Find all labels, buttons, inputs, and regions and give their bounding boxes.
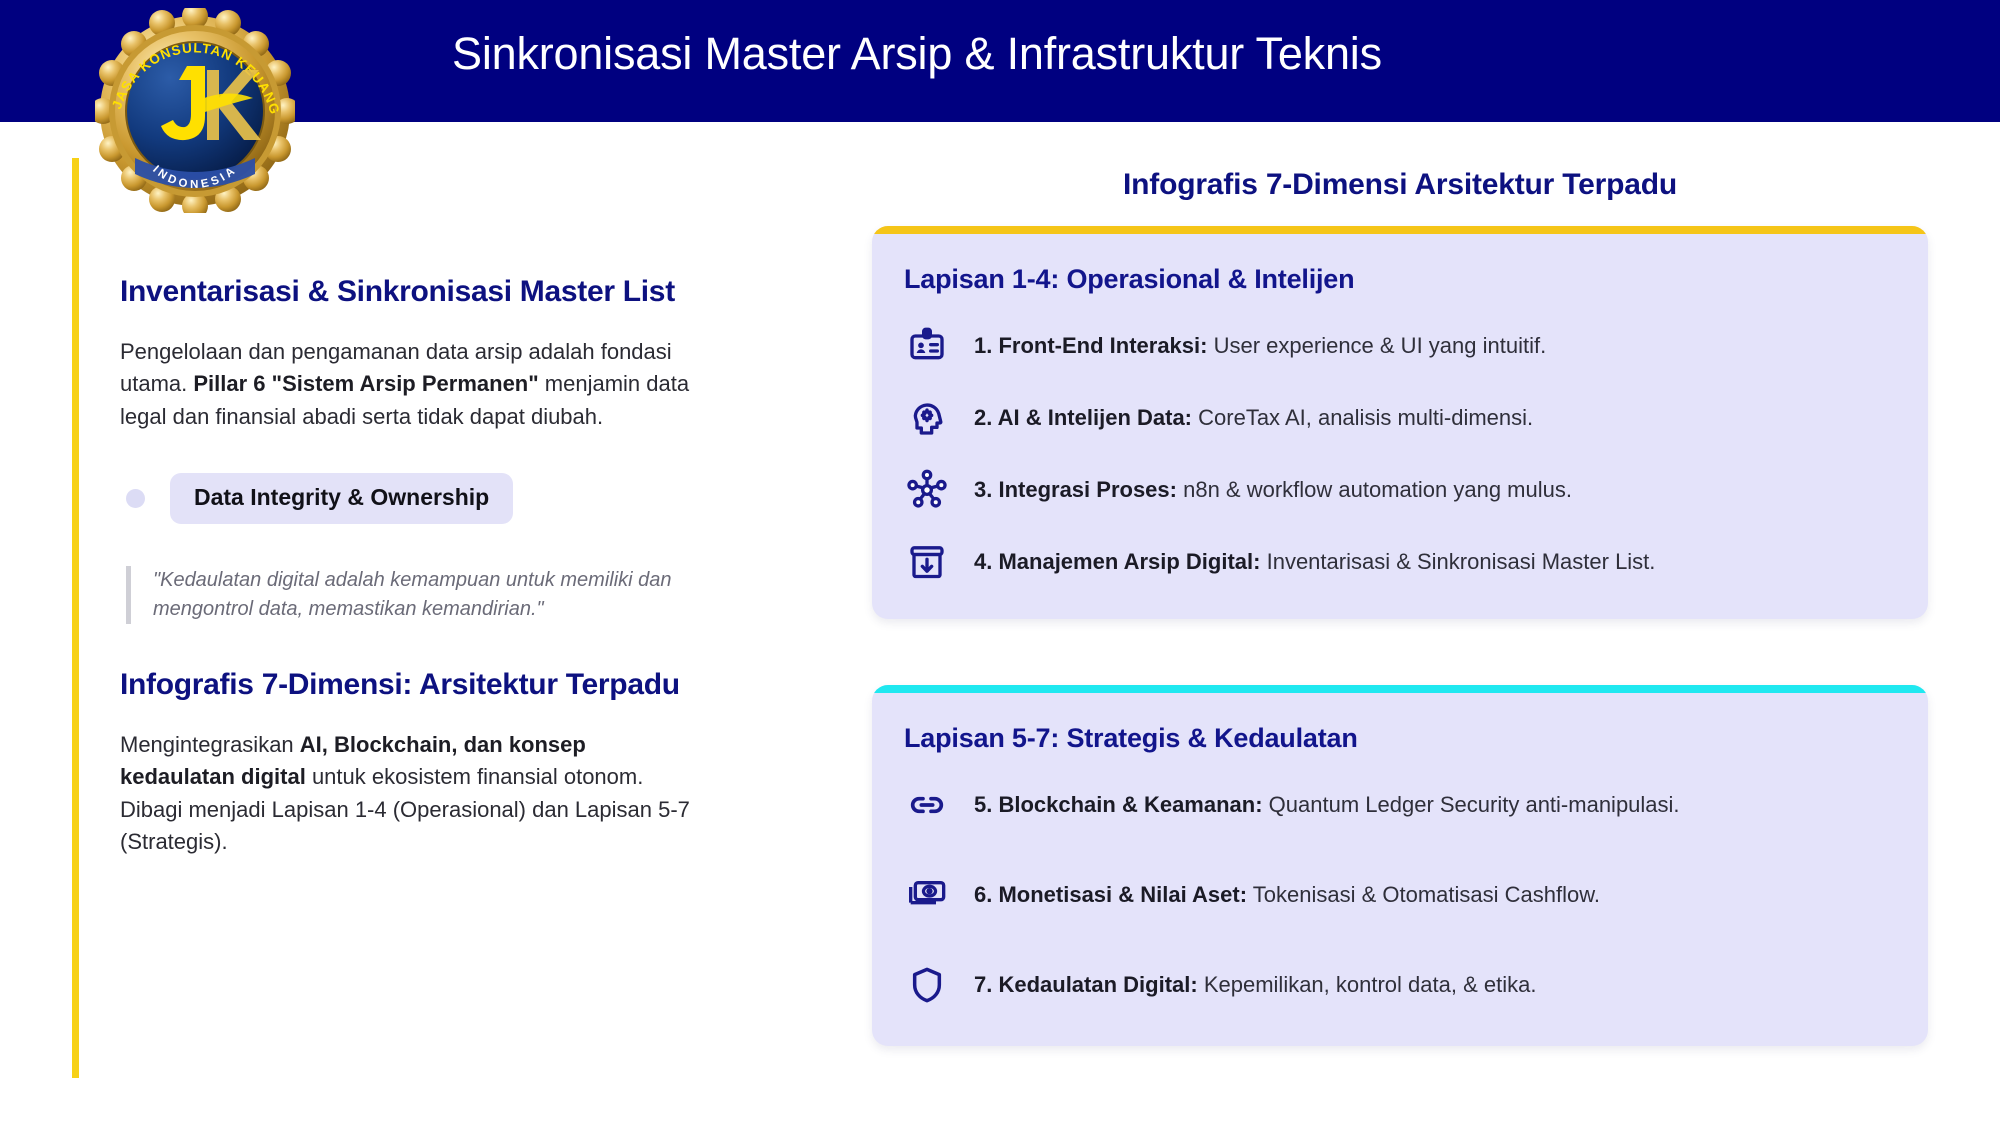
paragraph-part: Mengintegrasikan [120, 732, 300, 757]
card-accent-bar [872, 685, 1928, 693]
banknote-icon [904, 872, 950, 918]
list-item-desc: Tokenisasi & Otomatisasi Cashflow. [1247, 882, 1600, 907]
list-item-text: 6. Monetisasi & Nilai Aset: Tokenisasi &… [974, 881, 1600, 910]
list-item-text: 1. Front-End Interaksi: User experience … [974, 332, 1546, 361]
left-section2-heading: Infografis 7-Dimensi: Arsitektur Terpadu [120, 668, 690, 703]
left-section2: Infografis 7-Dimensi: Arsitektur Terpadu… [120, 668, 690, 859]
list-item-desc: Quantum Ledger Security anti-manipulasi. [1263, 792, 1680, 817]
bullet-dot-icon [126, 489, 145, 508]
list-item[interactable]: 4. Manajemen Arsip Digital: Inventarisas… [904, 539, 1896, 585]
left-section2-paragraph: Mengintegrasikan AI, Blockchain, dan kon… [120, 729, 690, 859]
ai-head-gear-icon [904, 395, 950, 441]
list-item[interactable]: 3. Integrasi Proses: n8n & workflow auto… [904, 467, 1896, 513]
id-badge-icon [904, 323, 950, 369]
list-item-desc: Kepemilikan, kontrol data, & etika. [1198, 972, 1537, 997]
left-column: Inventarisasi & Sinkronisasi Master List… [120, 275, 690, 859]
layer-card-strategis: Lapisan 5-7: Strategis & Kedaulatan 5. B… [872, 685, 1928, 1046]
list-item-desc: User experience & UI yang intuitif. [1207, 333, 1546, 358]
layer-list-2: 5. Blockchain & Keamanan: Quantum Ledger… [904, 782, 1896, 1008]
list-item-text: 7. Kedaulatan Digital: Kepemilikan, kont… [974, 971, 1536, 1000]
left-section1-paragraph: Pengelolaan dan pengamanan data arsip ad… [120, 336, 690, 434]
list-item[interactable]: 6. Monetisasi & Nilai Aset: Tokenisasi &… [904, 872, 1896, 918]
shield-icon [904, 962, 950, 1008]
seal-icon: PT. JASA KONSULTAN KEUANGAN INDONESIA [95, 8, 295, 213]
list-item[interactable]: 7. Kedaulatan Digital: Kepemilikan, kont… [904, 962, 1896, 1008]
list-item-label: 1. Front-End Interaksi: [974, 333, 1207, 358]
page-title: Sinkronisasi Master Arsip & Infrastruktu… [452, 28, 1382, 80]
list-item-text: 4. Manajemen Arsip Digital: Inventarisas… [974, 548, 1655, 577]
list-item-desc: n8n & workflow automation yang mulus. [1177, 477, 1572, 502]
list-item-desc: CoreTax AI, analisis multi-dimensi. [1192, 405, 1533, 430]
list-item-label: 7. Kedaulatan Digital: [974, 972, 1198, 997]
list-item-label: 6. Monetisasi & Nilai Aset: [974, 882, 1247, 907]
list-item[interactable]: 1. Front-End Interaksi: User experience … [904, 323, 1896, 369]
card-1-heading: Lapisan 1-4: Operasional & Intelijen [904, 264, 1896, 295]
list-item[interactable]: 5. Blockchain & Keamanan: Quantum Ledger… [904, 782, 1896, 828]
company-logo-seal: PT. JASA KONSULTAN KEUANGAN INDONESIA [95, 8, 295, 213]
link-chain-icon [904, 782, 950, 828]
list-item-label: 2. AI & Intelijen Data: [974, 405, 1192, 430]
network-hub-icon [904, 467, 950, 513]
badge-row: Data Integrity & Ownership [126, 473, 690, 524]
paragraph-part-bold: Pillar 6 "Sistem Arsip Permanen" [193, 371, 538, 396]
right-panel-title: Infografis 7-Dimensi Arsitektur Terpadu [872, 168, 1928, 202]
left-section1-heading: Inventarisasi & Sinkronisasi Master List [120, 275, 690, 310]
layer-card-operasional: Lapisan 1-4: Operasional & Intelijen [872, 226, 1928, 619]
list-item-text: 2. AI & Intelijen Data: CoreTax AI, anal… [974, 404, 1533, 433]
list-item-label: 5. Blockchain & Keamanan: [974, 792, 1263, 817]
archive-download-icon [904, 539, 950, 585]
quote-block: "Kedaulatan digital adalah kemampuan unt… [126, 566, 690, 624]
list-item-label: 4. Manajemen Arsip Digital: [974, 549, 1260, 574]
layer-list-1: 1. Front-End Interaksi: User experience … [904, 323, 1896, 585]
left-accent-bar [72, 158, 79, 1078]
quote-text: "Kedaulatan digital adalah kemampuan unt… [153, 566, 673, 624]
card-2-heading: Lapisan 5-7: Strategis & Kedaulatan [904, 723, 1896, 754]
list-item-label: 3. Integrasi Proses: [974, 477, 1177, 502]
list-item-desc: Inventarisasi & Sinkronisasi Master List… [1260, 549, 1655, 574]
list-item-text: 3. Integrasi Proses: n8n & workflow auto… [974, 476, 1572, 505]
list-item-text: 5. Blockchain & Keamanan: Quantum Ledger… [974, 791, 1680, 820]
status-badge[interactable]: Data Integrity & Ownership [170, 473, 513, 524]
slide-root: Sinkronisasi Master Arsip & Infrastruktu… [0, 0, 2000, 1125]
card-accent-bar [872, 226, 1928, 234]
list-item[interactable]: 2. AI & Intelijen Data: CoreTax AI, anal… [904, 395, 1896, 441]
